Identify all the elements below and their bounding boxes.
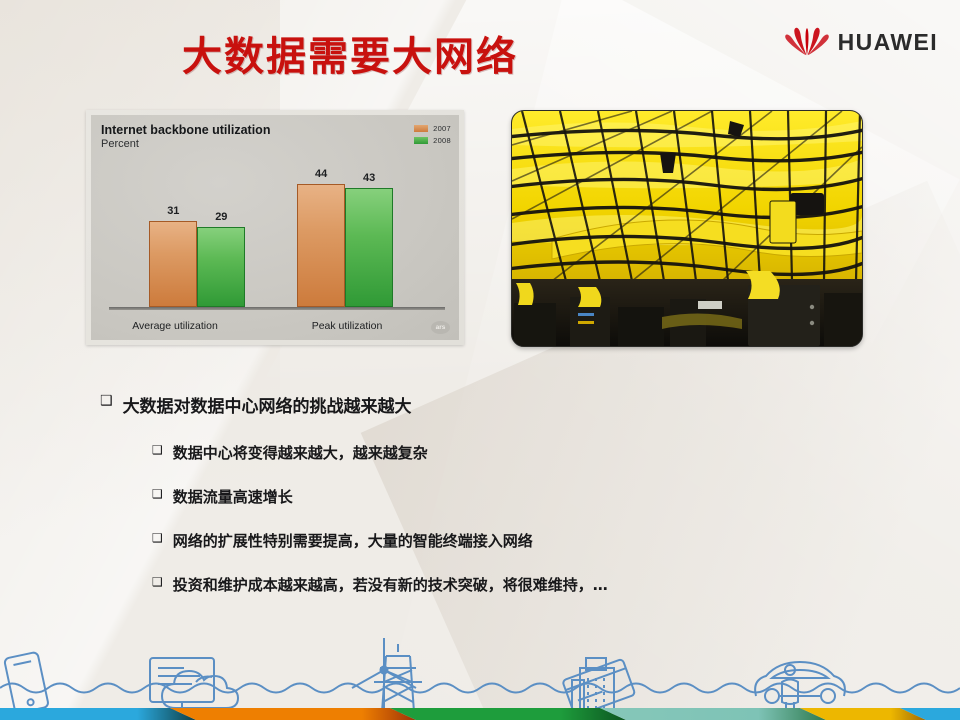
x-tick-label-average-utilization: Average utilization [115,320,235,332]
bar-value: 43 [345,172,393,184]
bar-value: 31 [149,205,197,217]
legend-label-2007: 2007 [433,124,451,133]
bar-wrap: 43 [345,188,393,307]
bar-2008-peak [345,188,393,307]
chart-title: Internet backbone utilization [101,123,270,137]
bullet-item-4: ❑ 网络的扩展性特别需要提高，大量的智能终端接入网络 [152,530,900,551]
wind-turbine-icon [352,638,416,712]
bar-wrap: 44 [297,184,345,307]
chart-watermark: ars [431,321,450,334]
legend-item-2007: 2007 [414,124,451,133]
bar-wrap: 31 [149,221,197,307]
bar-2007-average [149,221,197,307]
bullet-text: 网络的扩展性特别需要提高，大量的智能终端接入网络 [173,530,533,551]
bullet-marker-icon: ❑ [152,488,163,500]
bullet-text: 大数据对数据中心网络的挑战越来越大 [123,392,412,417]
bullet-item-2: ❑ 数据中心将变得越来越大，越来越复杂 [152,442,900,463]
huawei-logo: HUAWEI [785,27,938,57]
legend-swatch-2008 [414,137,428,144]
bar-group-peak-utilization: 44 43 [297,184,393,307]
person-icon [782,665,798,712]
datacenter-photo-art [512,111,862,346]
page-title: 大数据需要大网络 [0,24,700,82]
huawei-wordmark: HUAWEI [838,29,938,56]
x-tick-label-peak-utilization: Peak utilization [287,320,407,332]
bullet-text: 数据中心将变得越来越大，越来越复杂 [173,442,428,463]
bullet-marker-icon: ❑ [152,444,163,456]
bullet-marker-icon: ❑ [152,576,163,588]
bullet-text: 投资和维护成本越来越高，若没有新的技术突破，将很难维持，… [173,574,608,595]
bar-value: 44 [297,168,345,180]
legend-item-2008: 2008 [414,136,451,145]
bar-wrap: 29 [197,227,245,307]
bullet-item-3: ❑ 数据流量高速增长 [152,486,900,507]
bullet-marker-icon: ❑ [152,532,163,544]
huawei-flower-icon [785,27,829,57]
chart-legend: 2007 2008 [414,124,451,145]
slide-canvas: 大数据需要大网络 HUAWEI Internet backbone utiliz… [0,0,960,720]
bar-value: 29 [197,211,245,223]
chart-inner: Internet backbone utilization Percent 20… [91,115,459,340]
datacenter-photo [511,110,863,347]
bullet-marker-icon: ❑ [100,394,113,408]
chart-subtitle: Percent [101,138,139,150]
chart-panel: Internet backbone utilization Percent 20… [86,110,464,345]
bullet-item-1: ❑ 大数据对数据中心网络的挑战越来越大 [100,392,900,417]
chart-plot-area: 31 29 44 43 [109,163,445,310]
bar-2008-average [197,227,245,307]
bullet-item-5: ❑ 投资和维护成本越来越高，若没有新的技术突破，将很难维持，… [152,574,900,595]
bullet-list: ❑ 大数据对数据中心网络的挑战越来越大 ❑ 数据中心将变得越来越大，越来越复杂 … [100,392,900,618]
footer-illustration [0,630,960,720]
footer-decoration [0,630,960,720]
bullet-text: 数据流量高速增长 [173,486,293,507]
chart-x-axis [109,307,445,310]
legend-swatch-2007 [414,125,428,132]
car-icon [755,662,845,703]
bar-group-average-utilization: 31 29 [149,221,245,307]
footer-color-stripes [0,708,960,720]
bar-2007-peak [297,184,345,307]
legend-label-2008: 2008 [433,136,451,145]
